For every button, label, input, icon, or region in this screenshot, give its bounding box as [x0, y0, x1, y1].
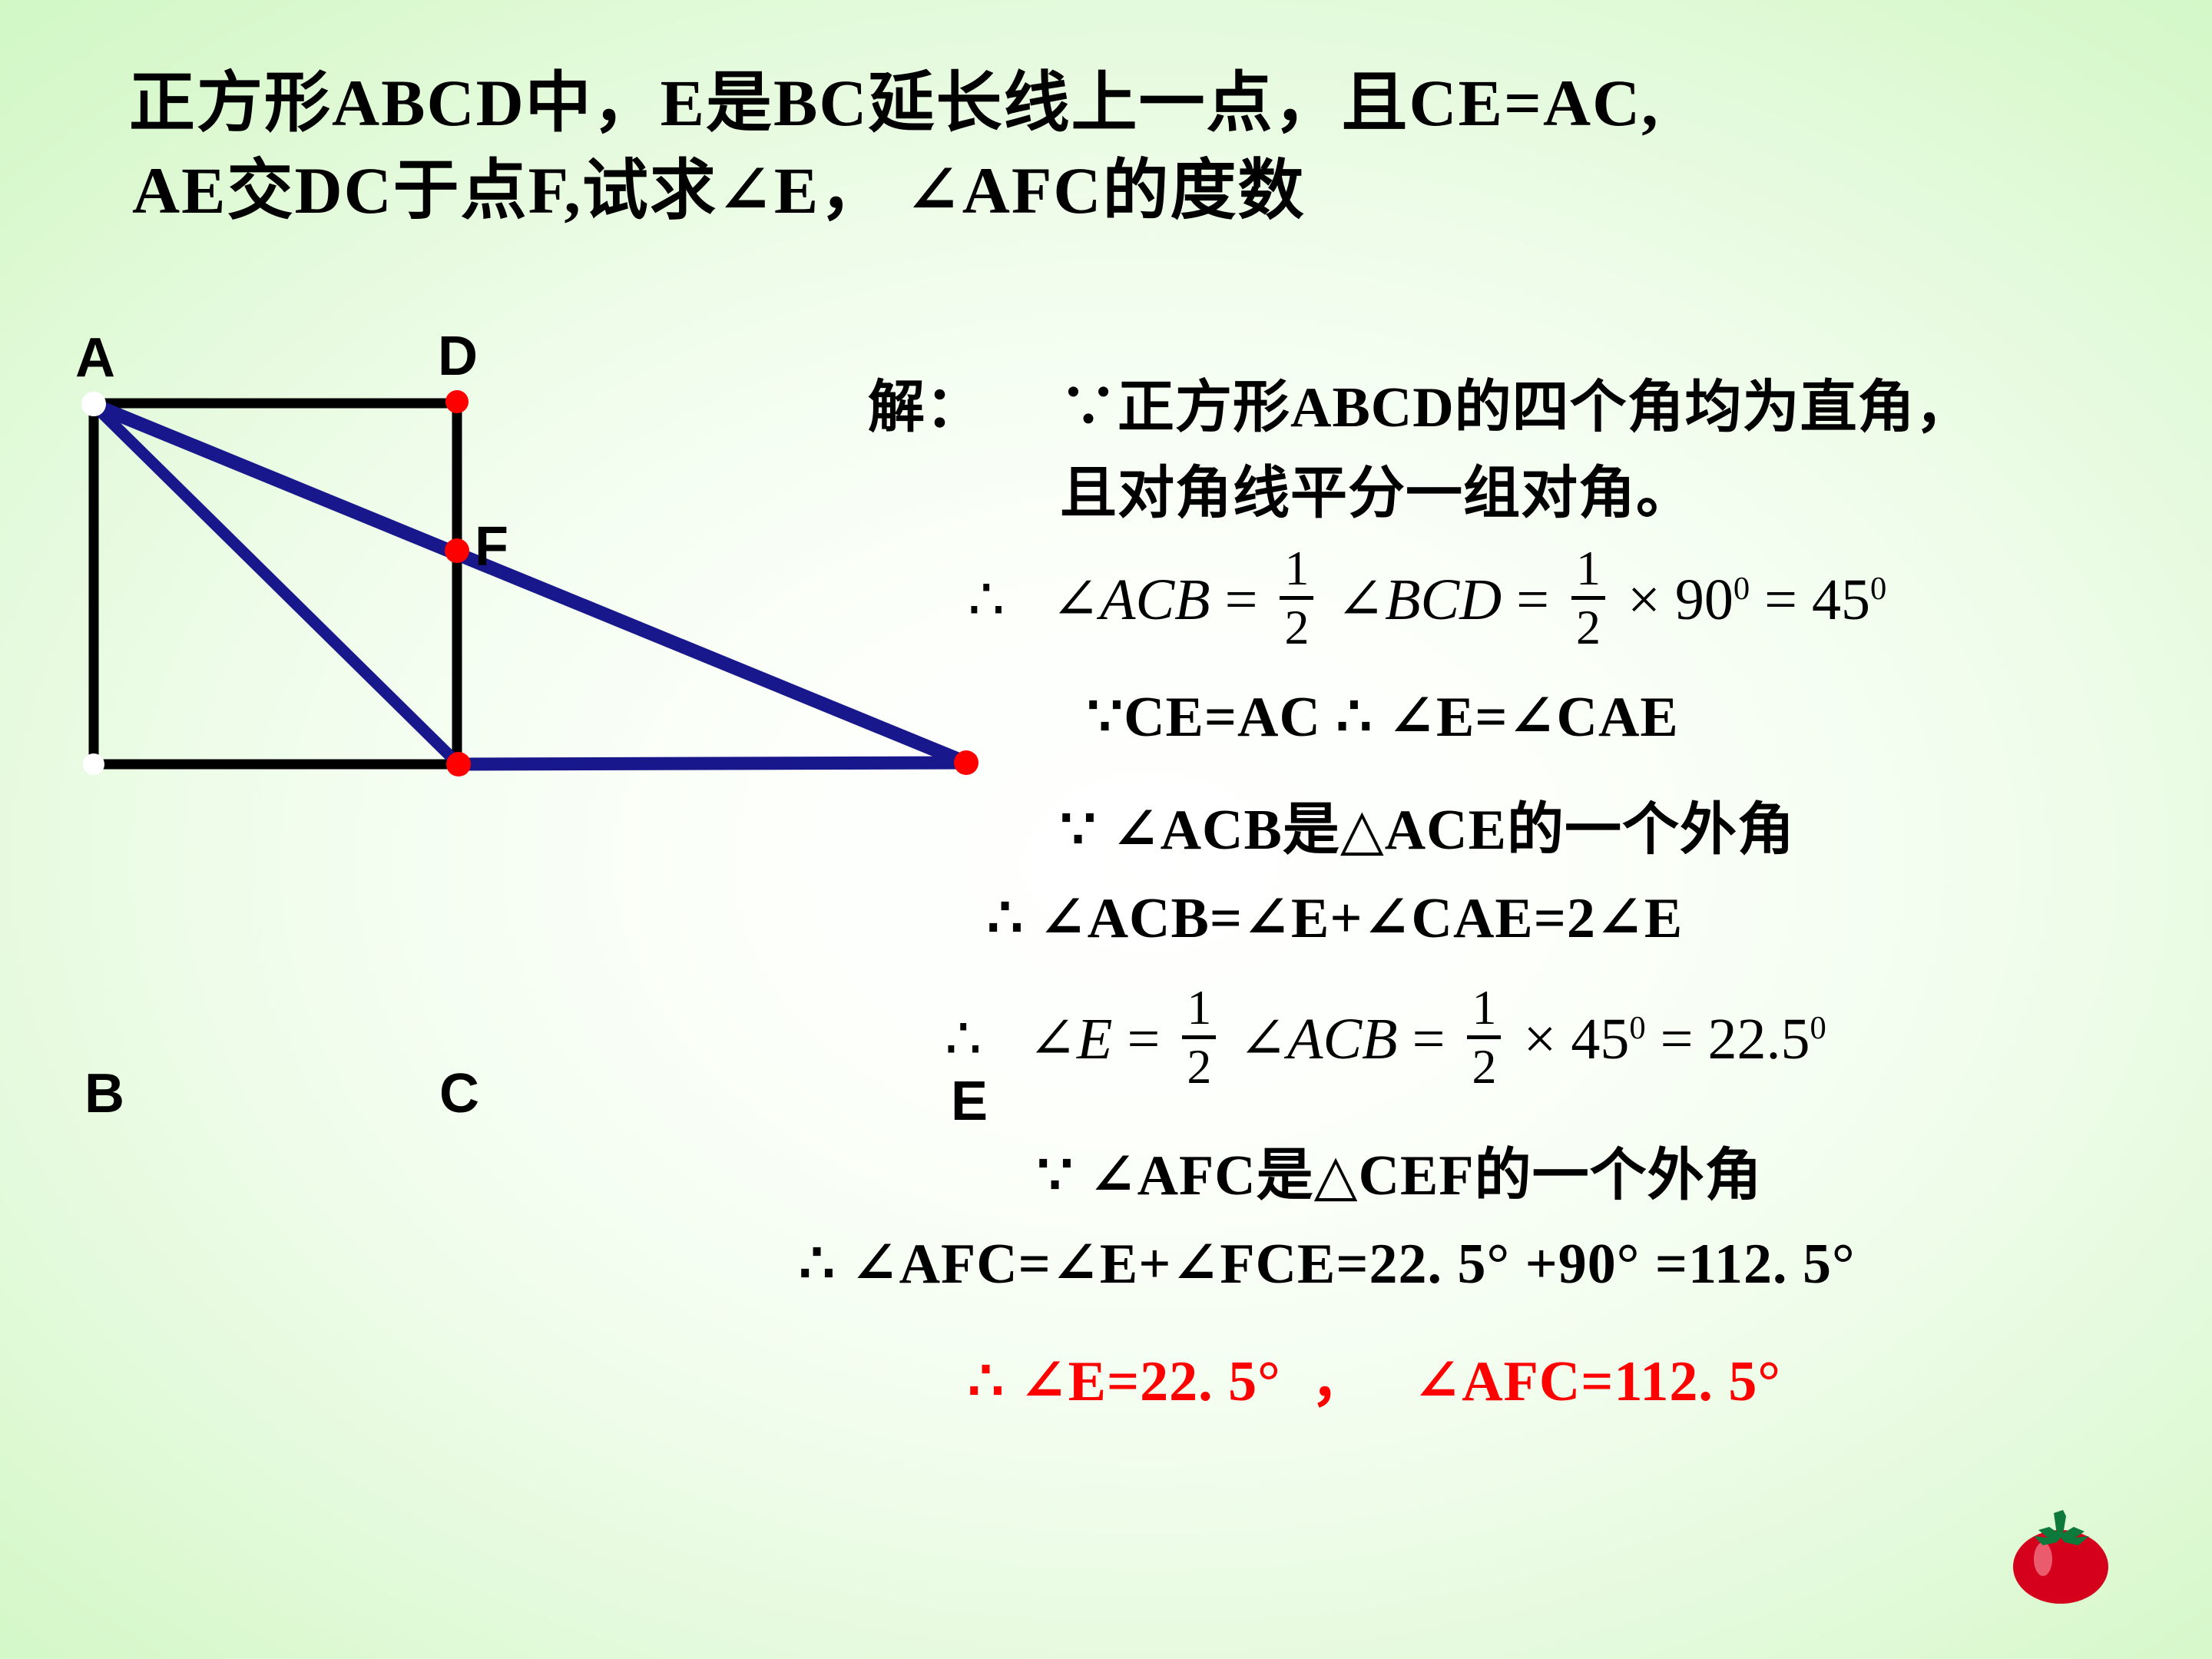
eq2-fraction-half: 1 2	[1182, 983, 1216, 1091]
eq2-equals-a: =	[1127, 1007, 1160, 1071]
eq1-term-bcd: ∠BCD	[1336, 568, 1502, 632]
eq1-frac-denominator: 2	[1280, 601, 1313, 652]
vertex-label-f: F	[475, 519, 508, 575]
eq1-value-45: 45	[1812, 568, 1870, 632]
eq2-value-225: 22.5	[1707, 1007, 1810, 1071]
eq2-fraction-half-2: 1 2	[1467, 983, 1501, 1091]
vertex-marker-a	[82, 392, 105, 416]
solution-line-4: ∵ ∠ACB是△ACE的一个外角	[1060, 783, 1795, 866]
solution-line-2: 且对角线平分一组对角。	[1060, 447, 1694, 529]
problem-statement-line-2: AE交DC于点F,试求∠E， ∠AFC的度数	[129, 147, 2049, 235]
eq1-fraction-half-2: 1 2	[1571, 544, 1605, 652]
eq1-equals-c: =	[1764, 568, 1797, 632]
eq2-equals-c: =	[1661, 1007, 1694, 1071]
solution-heading: 解：	[868, 361, 983, 443]
eq2-frac-denominator: 2	[1182, 1041, 1216, 1091]
eq2-lhs: ∠E	[1028, 1007, 1112, 1071]
eq1-times: ×	[1628, 568, 1661, 632]
eq1-equals-b: =	[1516, 568, 1549, 632]
eq2-sup-a: 0	[1629, 1010, 1645, 1046]
eq2-equals-b: =	[1412, 1007, 1445, 1071]
vertex-marker-d	[445, 390, 469, 413]
problem-statement-line-1: 正方形ABCD中，E是BC延长线上一点，且CE=AC,	[129, 60, 2049, 147]
eq1-prefix: ∴	[968, 568, 1005, 632]
tomato-body	[2013, 1530, 2108, 1604]
solution-line-1: ∵正方形ABCD的四个角均为直角，	[1060, 361, 1973, 443]
eq1-sup-b: 0	[1870, 571, 1886, 607]
eq1-equals-a: =	[1225, 568, 1258, 632]
vertex-marker-c	[446, 752, 471, 777]
eq2-frac2-numerator: 1	[1467, 983, 1501, 1034]
eq2-frac2-denominator: 2	[1467, 1041, 1501, 1091]
eq2-sup-b: 0	[1810, 1010, 1826, 1046]
eq2-value-45: 45	[1571, 1007, 1629, 1071]
construction-lines	[94, 405, 966, 764]
vertex-label-d: D	[438, 329, 478, 384]
eq2-times: ×	[1523, 1007, 1556, 1071]
vertex-label-c: C	[439, 1066, 479, 1121]
problem-statement: 正方形ABCD中，E是BC延长线上一点，且CE=AC, AE交DC于点F,试求∠…	[129, 60, 2049, 234]
solution-line-3: ∵CE=AC ∴ ∠E=∠CAE	[1087, 684, 1679, 750]
vertex-marker-e	[954, 750, 979, 775]
slide-canvas: 正方形ABCD中，E是BC延长线上一点，且CE=AC, AE交DC于点F,试求∠…	[0, 0, 2212, 1659]
equation-acb: ∴ ∠ACB = 1 2 ∠BCD = 1 2 × 900 = 450	[968, 544, 1886, 652]
solution-line-6: ∵ ∠AFC是△CEF的一个外角	[1037, 1129, 1763, 1211]
eq1-value-90: 90	[1675, 568, 1734, 632]
solution-line-7: ∴ ∠AFC=∠E+∠FCE=22. 5° +90° =112. 5°	[799, 1230, 1856, 1297]
equation-angle-e: ∴ ∠E = 1 2 ∠ACB = 1 2 × 450 = 22.50	[945, 983, 1826, 1091]
vertex-label-b: B	[84, 1066, 124, 1121]
eq1-frac2-denominator: 2	[1571, 601, 1605, 652]
eq1-frac-numerator: 1	[1280, 544, 1313, 594]
vertex-label-a: A	[75, 330, 115, 386]
eq2-prefix: ∴	[945, 1007, 982, 1071]
solution-line-5: ∴ ∠ACB=∠E+∠CAE=2∠E	[987, 885, 1683, 952]
tomato-icon	[2003, 1490, 2118, 1613]
eq1-lhs: ∠ACB	[1051, 568, 1210, 632]
vertex-marker-f	[445, 538, 469, 563]
final-answer: ∴ ∠E=22. 5° ， ∠AFC=112. 5°	[968, 1335, 1781, 1417]
eq1-frac2-numerator: 1	[1571, 544, 1605, 594]
eq2-term-acb: ∠ACB	[1238, 1007, 1397, 1071]
eq2-frac-numerator: 1	[1182, 983, 1216, 1034]
eq1-fraction-half: 1 2	[1280, 544, 1313, 652]
eq1-sup-a: 0	[1734, 571, 1750, 607]
tomato-highlight	[2034, 1542, 2052, 1576]
vertex-marker-b	[84, 754, 104, 774]
